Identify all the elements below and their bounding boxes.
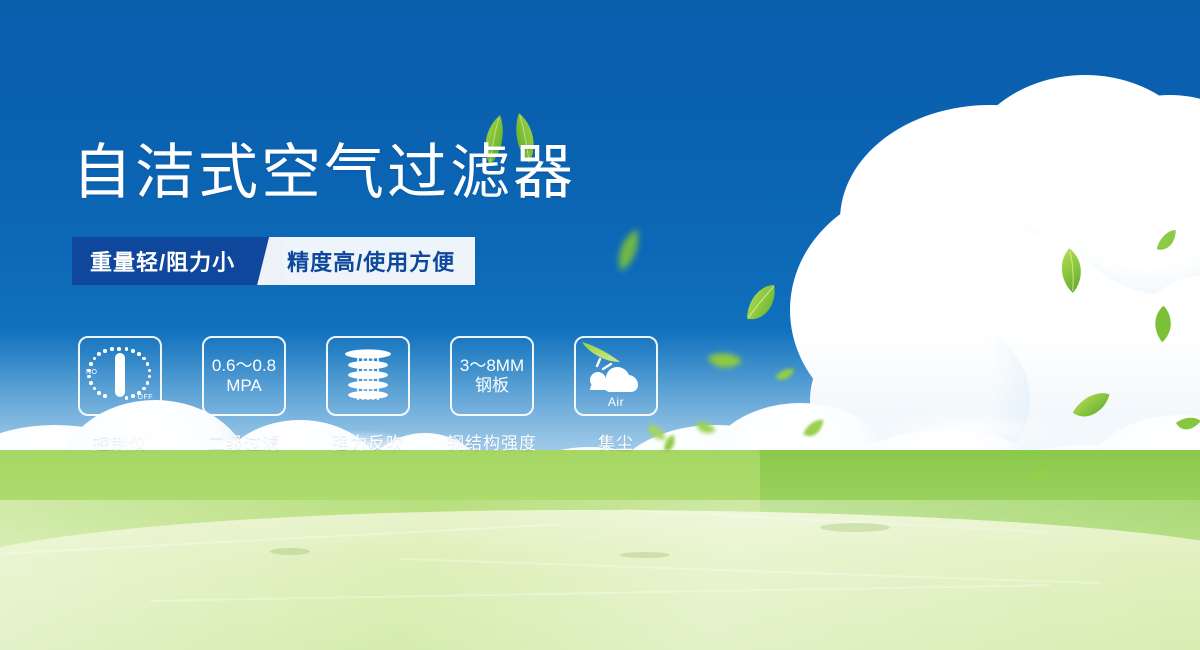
feature-label: 二级过滤 — [208, 429, 280, 454]
feature-label: 集尘 — [598, 429, 634, 454]
feature-icon-box — [326, 336, 410, 416]
product-banner: 自洁式空气过滤器 重量轻/阻力小 精度高/使用方便 NO OFF — [0, 0, 1200, 650]
feature-icon-box: 0.6～0.8 MPA — [202, 336, 286, 416]
subtitle-diagonal-divider — [257, 237, 283, 285]
feature-icon-box: Air — [574, 336, 658, 416]
subtitle-right: 精度高/使用方便 — [283, 237, 475, 285]
feature-icon-box: NO OFF — [78, 336, 162, 416]
feature-item-dust-collection[interactable]: Air 集尘 — [568, 336, 664, 454]
feature-list: NO OFF — [72, 336, 664, 454]
page-title: 自洁式空气过滤器 — [72, 143, 576, 203]
air-label: Air — [576, 395, 656, 409]
steel-plate-text-icon: 3～8MM 钢板 — [460, 356, 524, 397]
feature-label: 控制仪 — [93, 429, 147, 454]
dial-off-label: OFF — [138, 394, 154, 401]
feature-item-backblow[interactable]: 强力反吹 — [320, 336, 416, 454]
feature-icon-box: 3～8MM 钢板 — [450, 336, 534, 416]
feature-item-secondary-filter[interactable]: 0.6～0.8 MPA 二级过滤 — [196, 336, 292, 454]
feature-item-steel-strength[interactable]: 3～8MM 钢板 钢结构强度 — [444, 336, 540, 454]
feature-label: 强力反吹 — [332, 429, 404, 454]
filter-cartridge-icon — [341, 346, 395, 406]
subtitle-bar: 重量轻/阻力小 精度高/使用方便 — [72, 237, 475, 285]
subtitle-left: 重量轻/阻力小 — [72, 237, 257, 285]
feature-item-controller[interactable]: NO OFF — [72, 336, 168, 454]
pressure-text-icon: 0.6～0.8 MPA — [212, 356, 276, 397]
control-dial-icon: NO OFF — [86, 344, 154, 408]
feature-label: 钢结构强度 — [447, 429, 537, 454]
